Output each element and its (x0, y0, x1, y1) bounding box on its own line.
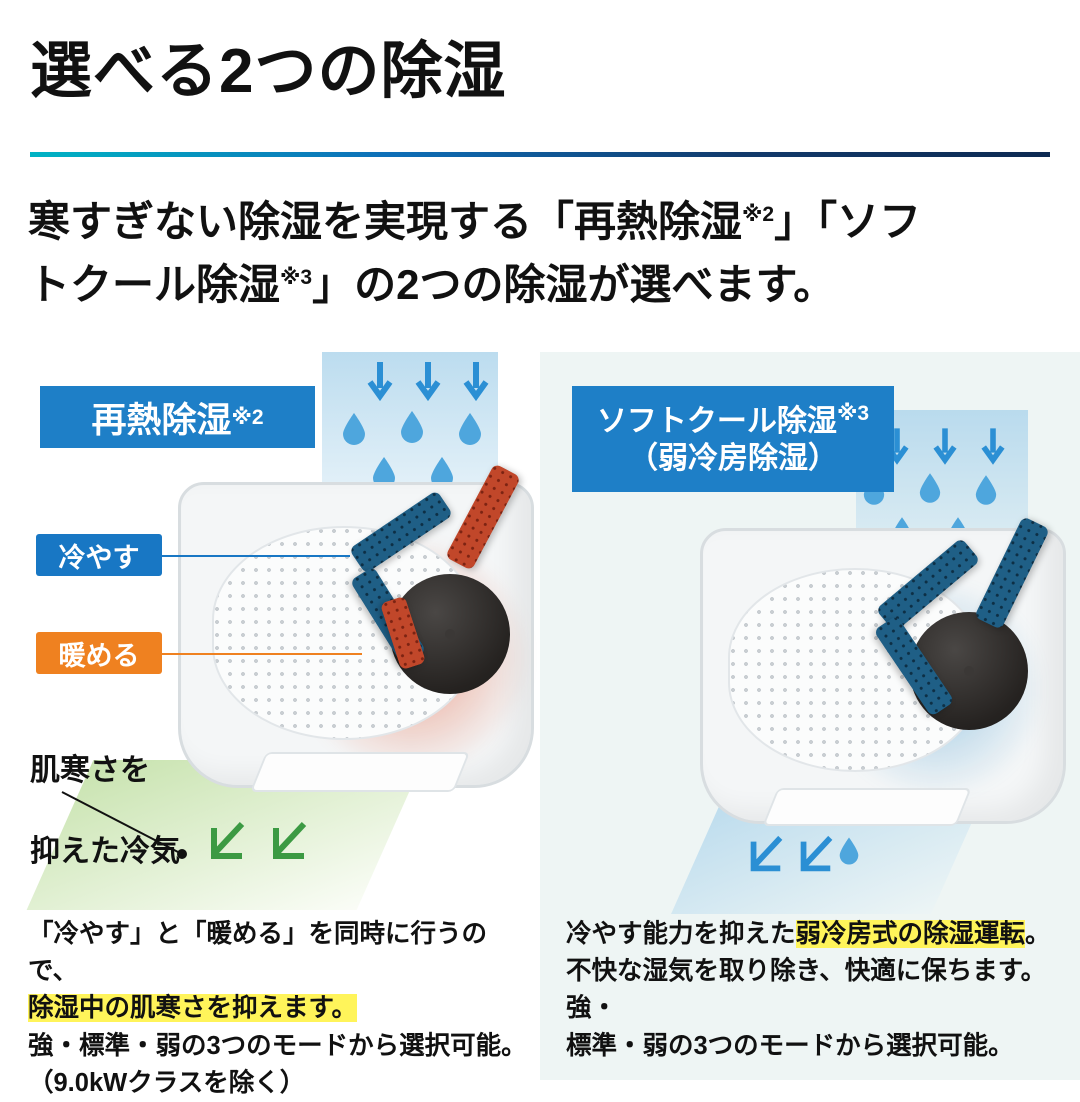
right-title-sup: ※3 (837, 402, 869, 425)
leader-line-cool (162, 555, 350, 557)
right-air-louver (762, 788, 971, 826)
lead-sup-1: ※2 (742, 203, 774, 226)
right-caption-line1-a: 冷やす能力を抑えた (566, 920, 796, 948)
illustration-stage: 再熱除湿※2 冷やす 暖める 肌寒さを 抑えた冷気 (0, 352, 1080, 912)
diagonal-arrow-icon (266, 820, 310, 866)
left-caption-line2: 除湿中の肌寒さを抑えます。 (28, 994, 357, 1022)
infographic-page: 選べる2つの除湿 寒すぎない除湿を実現する「再熱除湿※2」「ソフ トクール除湿※… (0, 0, 1080, 1080)
page-title: 選べる2つの除湿 (30, 38, 506, 106)
lead-text-4: 」の2つの除湿が選べます。 (312, 261, 835, 308)
right-caption-line1: 冷やす能力を抑えた弱冷房式の除湿運転。 (566, 916, 1066, 953)
right-title-line1-wrap: ソフトクール除湿※3 (597, 401, 869, 441)
left-title-text: 再熱除湿 (91, 392, 231, 443)
right-panel-title: ソフトクール除湿※3 （弱冷房除湿） (572, 386, 894, 492)
water-drop-icon (341, 412, 367, 446)
left-caption: 「冷やす」と「暖める」を同時に行うので、 除湿中の肌寒さを抑えます。 強・標準・… (28, 916, 528, 1102)
diagonal-arrow-icon (204, 820, 248, 866)
left-caption-line4: （9.0kWクラスを除く） (28, 1065, 528, 1102)
right-caption-line2: 不快な湿気を取り除き、快適に保ちます。強・ (566, 953, 1066, 1027)
down-arrow-icon (462, 362, 490, 402)
right-title-line1: ソフトクール除湿 (597, 405, 837, 438)
label-cool: 冷やす (36, 534, 162, 576)
lead-text-3: トクール除湿 (28, 261, 280, 308)
left-caption-line1: 「冷やす」と「暖める」を同時に行うので、 (28, 916, 528, 990)
right-caption-highlight: 弱冷房式の除湿運転 (796, 920, 1026, 948)
left-caption-line3: 強・標準・弱の3つのモードから選択可能。 (28, 1028, 528, 1065)
lead-text-2: 」「ソフ (774, 198, 921, 245)
down-arrow-icon (414, 362, 442, 402)
label-warm-text: 暖める (59, 634, 140, 673)
lead-paragraph: 寒すぎない除湿を実現する「再熱除湿※2」「ソフ トクール除湿※3」の2つの除湿が… (28, 190, 1058, 316)
water-drop-icon (457, 412, 483, 446)
right-title-line2: （弱冷房除湿） (628, 440, 838, 478)
left-title-sup: ※2 (231, 405, 263, 430)
label-warm: 暖める (36, 632, 162, 674)
left-airflow-note-line1: 肌寒さを (30, 754, 150, 787)
down-arrow-icon (980, 428, 1006, 466)
leader-line-airflow (58, 790, 198, 870)
label-cool-text: 冷やす (59, 536, 140, 575)
right-caption: 冷やす能力を抑えた弱冷房式の除湿運転。 不快な湿気を取り除き、快適に保ちます。強… (566, 916, 1066, 1065)
leader-line-warm (162, 653, 362, 655)
right-caption-line1-b: 。 (1025, 920, 1051, 948)
down-arrow-icon (932, 428, 958, 466)
down-arrow-icon (366, 362, 394, 402)
water-drop-icon (399, 410, 425, 444)
title-divider (30, 152, 1050, 157)
diagonal-arrow-icon (744, 834, 786, 878)
left-air-louver (250, 752, 470, 792)
water-drop-icon (838, 836, 860, 866)
water-drop-icon (974, 474, 998, 506)
lead-text-1: 寒すぎない除湿を実現する「再熱除湿 (28, 198, 742, 245)
right-caption-line3: 標準・弱の3つのモードから選択可能。 (566, 1028, 1066, 1065)
lead-sup-2: ※3 (280, 266, 312, 289)
water-drop-icon (918, 472, 942, 504)
left-panel-title: 再熱除湿※2 (40, 386, 315, 448)
left-caption-line2-wrap: 除湿中の肌寒さを抑えます。 (28, 990, 528, 1027)
diagonal-arrow-icon (794, 834, 836, 878)
